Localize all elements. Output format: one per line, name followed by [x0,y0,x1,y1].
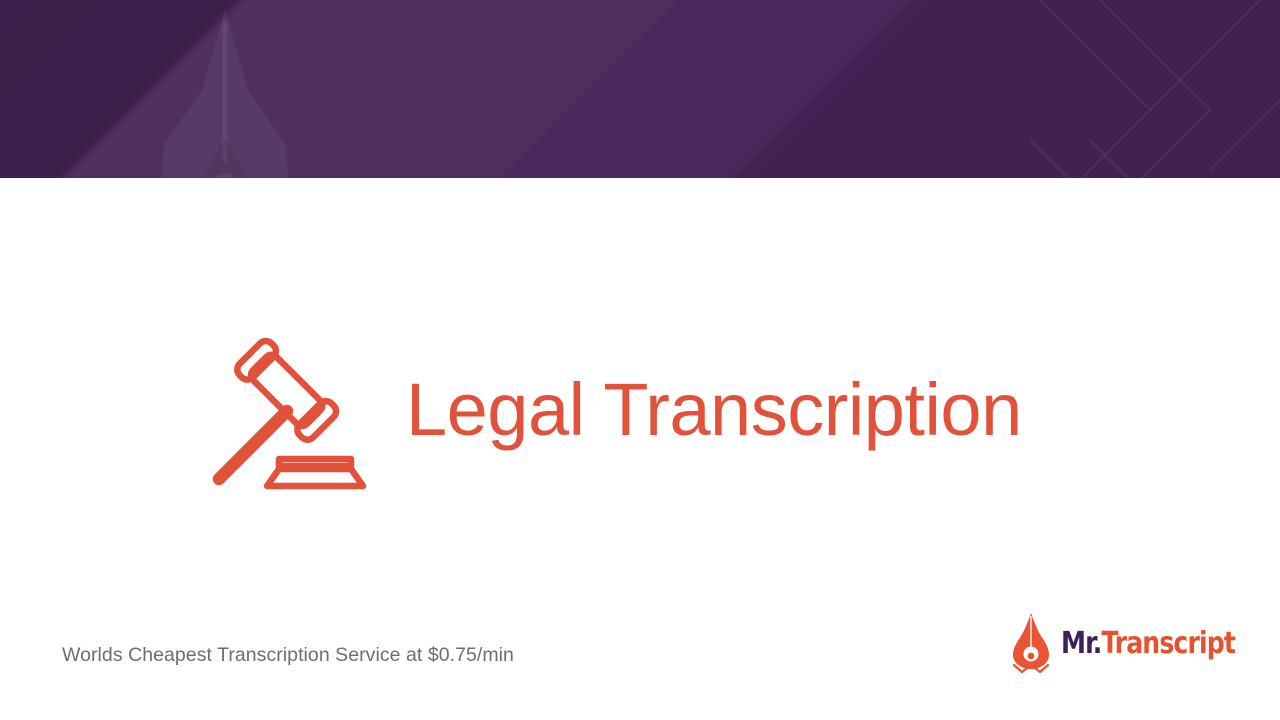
tagline-text: Worlds Cheapest Transcription Service at… [62,644,514,667]
header-band [0,0,1280,178]
pen-nib-icon [140,10,310,178]
header-gradient-overlay [0,0,1280,178]
page-title: Legal Transcription [406,373,1022,447]
gavel-icon [205,328,370,493]
pen-nib-icon [1008,612,1054,674]
slide-main-content: Legal Transcription [0,300,1280,520]
brand-name: Transcript [1101,626,1235,661]
brand-logo-text: Mr.Transcript [1061,626,1235,661]
brand-logo: Mr.Transcript [1008,612,1213,674]
gavel-icon-container [205,328,370,493]
slide-canvas: Legal Transcription Worlds Cheapest Tran… [0,0,1280,720]
brand-prefix: Mr. [1061,626,1101,661]
chevron-diamond-pattern-icon [850,0,1280,178]
